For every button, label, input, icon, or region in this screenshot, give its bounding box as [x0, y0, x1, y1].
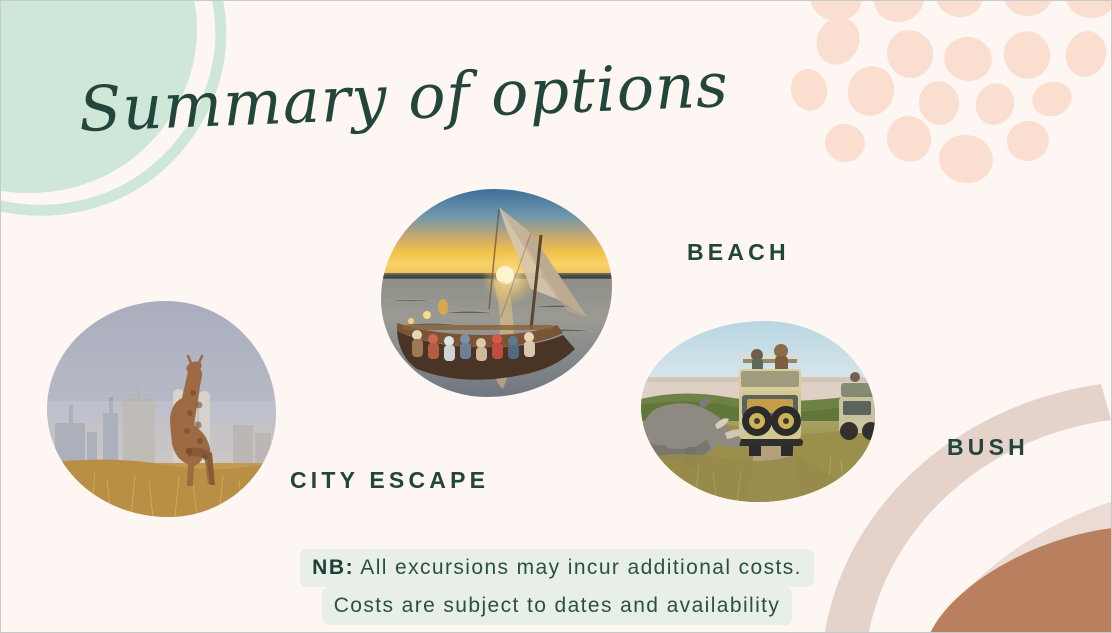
beach-photo [381, 189, 612, 397]
safari-jeep [737, 344, 803, 456]
note-line-2: Costs are subject to dates and availabil… [322, 587, 793, 625]
note-line-1-wrap: NB: All excursions may incur additional … [242, 549, 872, 587]
city-escape-photo [47, 301, 276, 517]
rose-arc-shape-2 [931, 502, 1111, 632]
terracotta-ellipse-shape [900, 491, 1111, 632]
note-line-1-text: All excursions may incur additional cost… [360, 556, 802, 579]
note-line-1: NB: All excursions may incur additional … [300, 549, 814, 587]
note-block: NB: All excursions may incur additional … [242, 549, 872, 625]
note-prefix: NB: [312, 556, 354, 579]
label-beach: BEACH [687, 239, 790, 266]
label-bush: BUSH [947, 434, 1029, 461]
slide-title: Summary of options [78, 54, 730, 141]
slide-canvas: Summary of options [0, 0, 1112, 633]
peach-dots-decoration [791, 1, 1111, 216]
bush-photo [641, 321, 875, 502]
label-city-escape: CITY ESCAPE [290, 467, 489, 494]
note-line-2-wrap: Costs are subject to dates and availabil… [242, 587, 872, 625]
